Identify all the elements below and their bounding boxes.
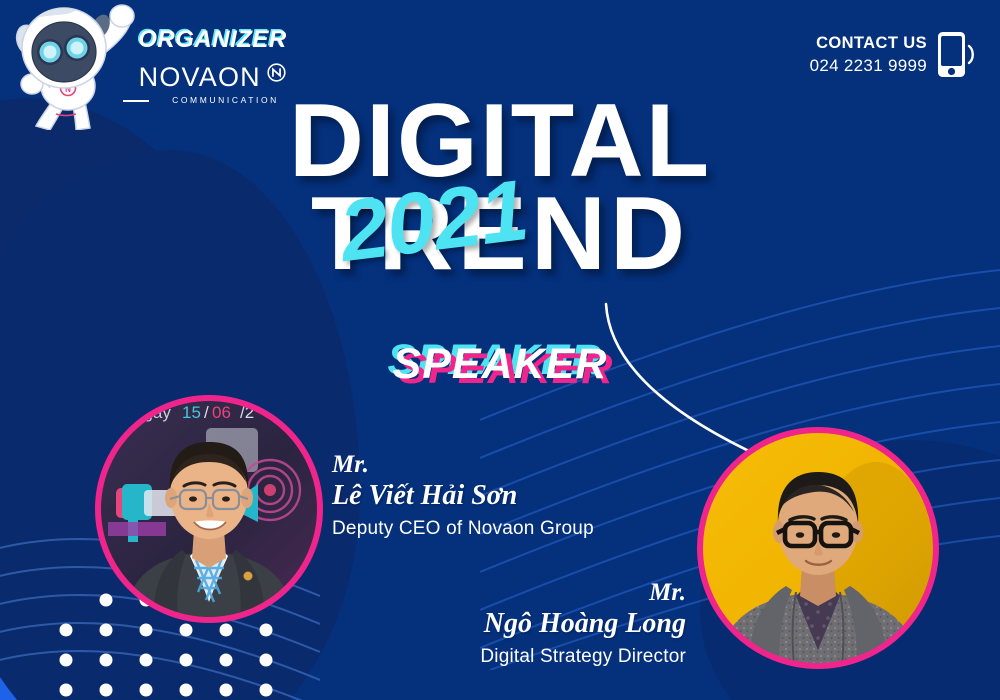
contact-block[interactable]: CONTACT US 024 2231 9999 [810, 30, 978, 80]
speaker-1-info: Mr. Lê Viết Hải Sơn Deputy CEO of Novaon… [332, 452, 594, 540]
novaon-circle-n-icon [267, 63, 286, 82]
speaker-2-name: Ngô Hoàng Long [480, 608, 686, 639]
contact-text: CONTACT US 024 2231 9999 [810, 34, 927, 76]
organizer-label: ORGANIZER [125, 28, 300, 52]
speaker-2-photo-ring [697, 427, 939, 669]
speaker-1-honorific: Mr. [332, 452, 594, 478]
contact-label: CONTACT US [810, 34, 927, 53]
contact-phone-number[interactable]: 024 2231 9999 [810, 55, 927, 76]
novaon-wordmark: NOVAON [139, 64, 261, 91]
speaker-1-photo-ring [95, 395, 323, 623]
speaker-1-role: Deputy CEO of Novaon Group [332, 517, 594, 541]
speaker-2-info: Mr. Ngô Hoàng Long Digital Strategy Dire… [480, 580, 686, 668]
mobile-phone-signal-icon [936, 30, 978, 80]
speaker-2-role: Digital Strategy Director [480, 645, 686, 669]
speaker-badge-label: SPEAKER [393, 340, 608, 388]
speaker-2-honorific: Mr. [480, 580, 686, 606]
poster-canvas: N ORGANIZER NOVAON COMMU [0, 0, 1000, 700]
speaker-badge: SPEAKER SPEAKER SPEAKER [393, 343, 608, 386]
speaker-1-name: Lê Viết Hải Sơn [332, 480, 594, 511]
